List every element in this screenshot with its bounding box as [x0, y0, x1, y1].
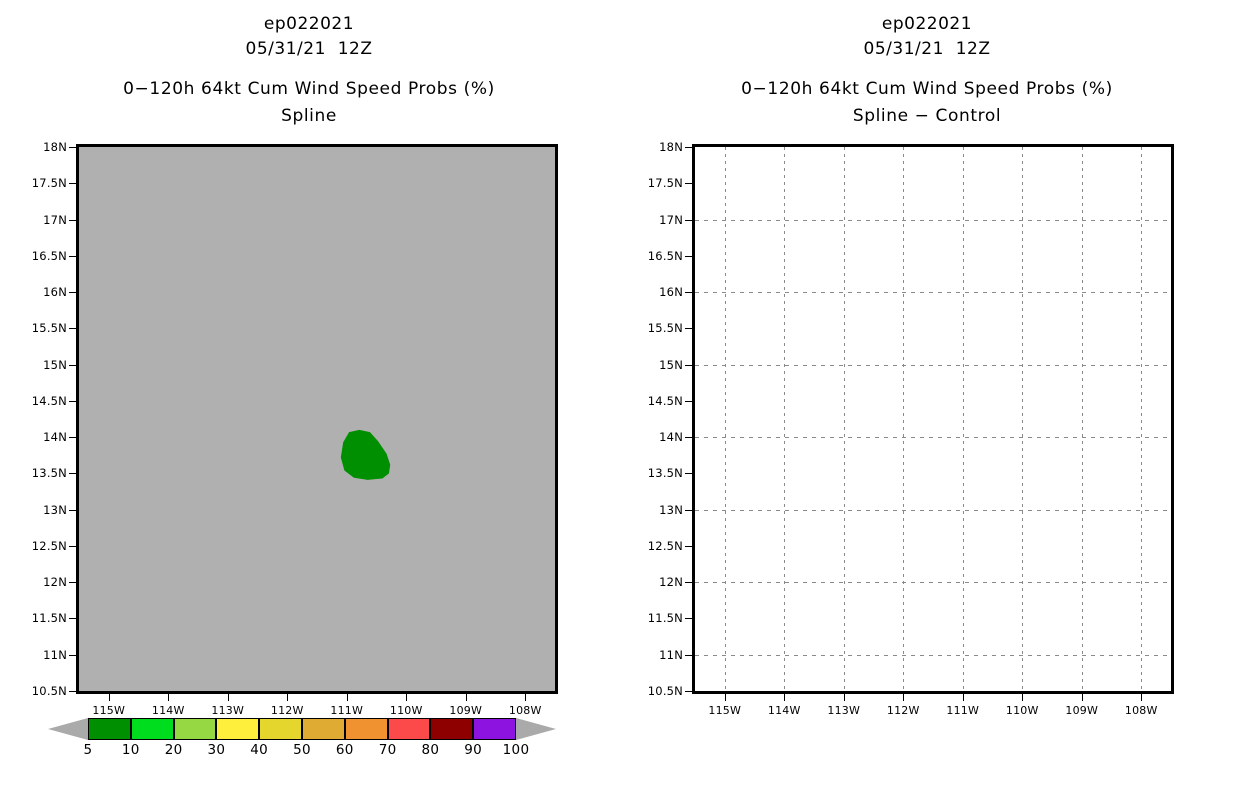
panel-spline: ep022021 05/31/21 12Z 0−120h 64kt Cum Wi…: [0, 0, 618, 800]
y-axis-label: 10.5N: [32, 684, 67, 698]
y-axis-tick: [685, 582, 692, 583]
x-axis-tick: [784, 694, 785, 701]
y-axis-label: 15.5N: [648, 321, 683, 335]
y-axis-label: 12.5N: [648, 539, 683, 553]
y-axis-tick: [69, 365, 76, 366]
colorbar-tick-label: 100: [503, 742, 530, 758]
storm-id: ep022021: [618, 12, 1236, 37]
y-axis-tick: [69, 510, 76, 511]
x-axis-tick: [1022, 694, 1023, 701]
y-axis-label: 11.5N: [648, 611, 683, 625]
x-axis-label: 114W: [152, 704, 185, 717]
y-axis-label: 11.5N: [32, 611, 67, 625]
x-axis-label: 113W: [827, 704, 860, 717]
y-axis-label: 12.5N: [32, 539, 67, 553]
x-axis-tick: [287, 694, 288, 701]
x-axis-label: 115W: [708, 704, 741, 717]
colorbar-band-30[interactable]: [216, 718, 259, 740]
probability-contour-layer: [695, 147, 1171, 691]
colorbar-band-90[interactable]: [473, 718, 516, 740]
colorbar-over-arrow: [516, 718, 556, 740]
x-axis-tick: [347, 694, 348, 701]
y-axis-tick: [685, 365, 692, 366]
x-axis-tick: [844, 694, 845, 701]
y-axis-tick: [69, 183, 76, 184]
y-axis-label: 14N: [659, 430, 683, 444]
colorbar-tick-label: 90: [464, 742, 482, 758]
probability-contour-layer: [79, 147, 555, 691]
x-axis-label: 112W: [271, 704, 304, 717]
y-axis-label: 11N: [659, 648, 683, 662]
panel-spline-minus-control: ep022021 05/31/21 12Z 0−120h 64kt Cum Wi…: [618, 0, 1236, 800]
y-axis-label: 14N: [43, 430, 67, 444]
x-axis-label: 108W: [1125, 704, 1158, 717]
chart-subtitle: Spline − Control: [618, 103, 1236, 130]
x-axis-label: 111W: [330, 704, 363, 717]
x-axis-label: 109W: [1065, 704, 1098, 717]
colorbar-tick-label: 70: [379, 742, 397, 758]
x-axis-label: 110W: [390, 704, 423, 717]
y-axis-label: 16.5N: [32, 249, 67, 263]
y-axis-tick: [685, 220, 692, 221]
y-axis-tick: [69, 147, 76, 148]
y-axis-tick: [69, 473, 76, 474]
colorbar-tick-label: 40: [250, 742, 268, 758]
chart-title: 0−120h 64kt Cum Wind Speed Probs (%): [618, 76, 1236, 103]
panel-spline-titles: ep022021 05/31/21 12Z 0−120h 64kt Cum Wi…: [0, 12, 618, 130]
x-axis-label: 108W: [509, 704, 542, 717]
colorbar-band-80[interactable]: [430, 718, 473, 740]
storm-id: ep022021: [0, 12, 618, 37]
x-axis-tick: [406, 694, 407, 701]
map-plot-spline[interactable]: 18N17.5N17N16.5N16N15.5N15N14.5N14N13.5N…: [76, 144, 558, 694]
y-axis-tick: [69, 328, 76, 329]
x-axis-tick: [1082, 694, 1083, 701]
y-axis-label: 11N: [43, 648, 67, 662]
y-axis-tick: [685, 618, 692, 619]
colorbar-band-40[interactable]: [259, 718, 302, 740]
colorbar-band-20[interactable]: [174, 718, 217, 740]
y-axis-label: 15N: [659, 358, 683, 372]
x-axis-label: 112W: [887, 704, 920, 717]
forecast-datetime: 05/31/21 12Z: [0, 37, 618, 62]
x-axis-label: 115W: [92, 704, 125, 717]
x-axis-tick: [466, 694, 467, 701]
x-axis-tick: [1141, 694, 1142, 701]
y-axis-label: 13N: [43, 503, 67, 517]
colorbar-tick-label: 5: [84, 742, 93, 758]
x-axis-label: 109W: [449, 704, 482, 717]
x-axis-tick: [109, 694, 110, 701]
colorbar-tick-label: 50: [293, 742, 311, 758]
y-axis-label: 15.5N: [32, 321, 67, 335]
y-axis-label: 13.5N: [32, 466, 67, 480]
y-axis-tick: [685, 292, 692, 293]
chart-title: 0−120h 64kt Cum Wind Speed Probs (%): [0, 76, 618, 103]
colorbar-tick-label: 10: [122, 742, 140, 758]
y-axis-tick: [685, 546, 692, 547]
y-axis-tick: [69, 256, 76, 257]
y-axis-tick: [685, 401, 692, 402]
colorbar-under-arrow: [48, 718, 88, 740]
y-axis-tick: [685, 655, 692, 656]
y-axis-tick: [69, 582, 76, 583]
x-axis-label: 110W: [1006, 704, 1039, 717]
y-axis-tick: [685, 437, 692, 438]
y-axis-tick: [685, 691, 692, 692]
y-axis-label: 13.5N: [648, 466, 683, 480]
y-axis-label: 10.5N: [648, 684, 683, 698]
y-axis-label: 16N: [659, 285, 683, 299]
y-axis-tick: [685, 510, 692, 511]
y-axis-label: 17.5N: [32, 176, 67, 190]
colorbar-band-70[interactable]: [388, 718, 431, 740]
y-axis-tick: [69, 292, 76, 293]
x-axis-tick: [168, 694, 169, 701]
y-axis-label: 17.5N: [648, 176, 683, 190]
x-axis-label: 113W: [211, 704, 244, 717]
y-axis-tick: [69, 437, 76, 438]
probability-contour-5: [341, 430, 390, 480]
colorbar-tick-label: 30: [208, 742, 226, 758]
y-axis-label: 17N: [659, 213, 683, 227]
y-axis-label: 14.5N: [648, 394, 683, 408]
x-axis-tick: [725, 694, 726, 701]
y-axis-tick: [69, 401, 76, 402]
colorbar-probability[interactable]: 5102030405060708090100: [48, 718, 556, 740]
y-axis-label: 15N: [43, 358, 67, 372]
colorbar-band-10[interactable]: [131, 718, 174, 740]
y-axis-tick: [685, 147, 692, 148]
y-axis-tick: [69, 546, 76, 547]
y-axis-label: 17N: [43, 213, 67, 227]
x-axis-tick: [228, 694, 229, 701]
y-axis-tick: [69, 655, 76, 656]
colorbar-tick-label: 80: [422, 742, 440, 758]
y-axis-tick: [69, 220, 76, 221]
colorbar-tick-label: 60: [336, 742, 354, 758]
y-axis-label: 13N: [659, 503, 683, 517]
y-axis-label: 16N: [43, 285, 67, 299]
forecast-datetime: 05/31/21 12Z: [618, 37, 1236, 62]
y-axis-label: 12N: [659, 575, 683, 589]
y-axis-label: 18N: [659, 140, 683, 154]
x-axis-label: 111W: [946, 704, 979, 717]
y-axis-tick: [685, 256, 692, 257]
y-axis-tick: [685, 183, 692, 184]
chart-subtitle: Spline: [0, 103, 618, 130]
colorbar-band-5[interactable]: [88, 718, 131, 740]
colorbar-band-60[interactable]: [345, 718, 388, 740]
y-axis-tick: [685, 328, 692, 329]
colorbar-tick-label: 20: [165, 742, 183, 758]
y-axis-tick: [685, 473, 692, 474]
y-axis-tick: [69, 691, 76, 692]
map-plot-difference[interactable]: 18N17.5N17N16.5N16N15.5N15N14.5N14N13.5N…: [692, 144, 1174, 694]
x-axis-label: 114W: [768, 704, 801, 717]
y-axis-tick: [69, 618, 76, 619]
y-axis-label: 16.5N: [648, 249, 683, 263]
y-axis-label: 12N: [43, 575, 67, 589]
y-axis-label: 14.5N: [32, 394, 67, 408]
x-axis-tick: [963, 694, 964, 701]
colorbar-band-50[interactable]: [302, 718, 345, 740]
y-axis-label: 18N: [43, 140, 67, 154]
panel-diff-titles: ep022021 05/31/21 12Z 0−120h 64kt Cum Wi…: [618, 12, 1236, 130]
x-axis-tick: [903, 694, 904, 701]
x-axis-tick: [525, 694, 526, 701]
